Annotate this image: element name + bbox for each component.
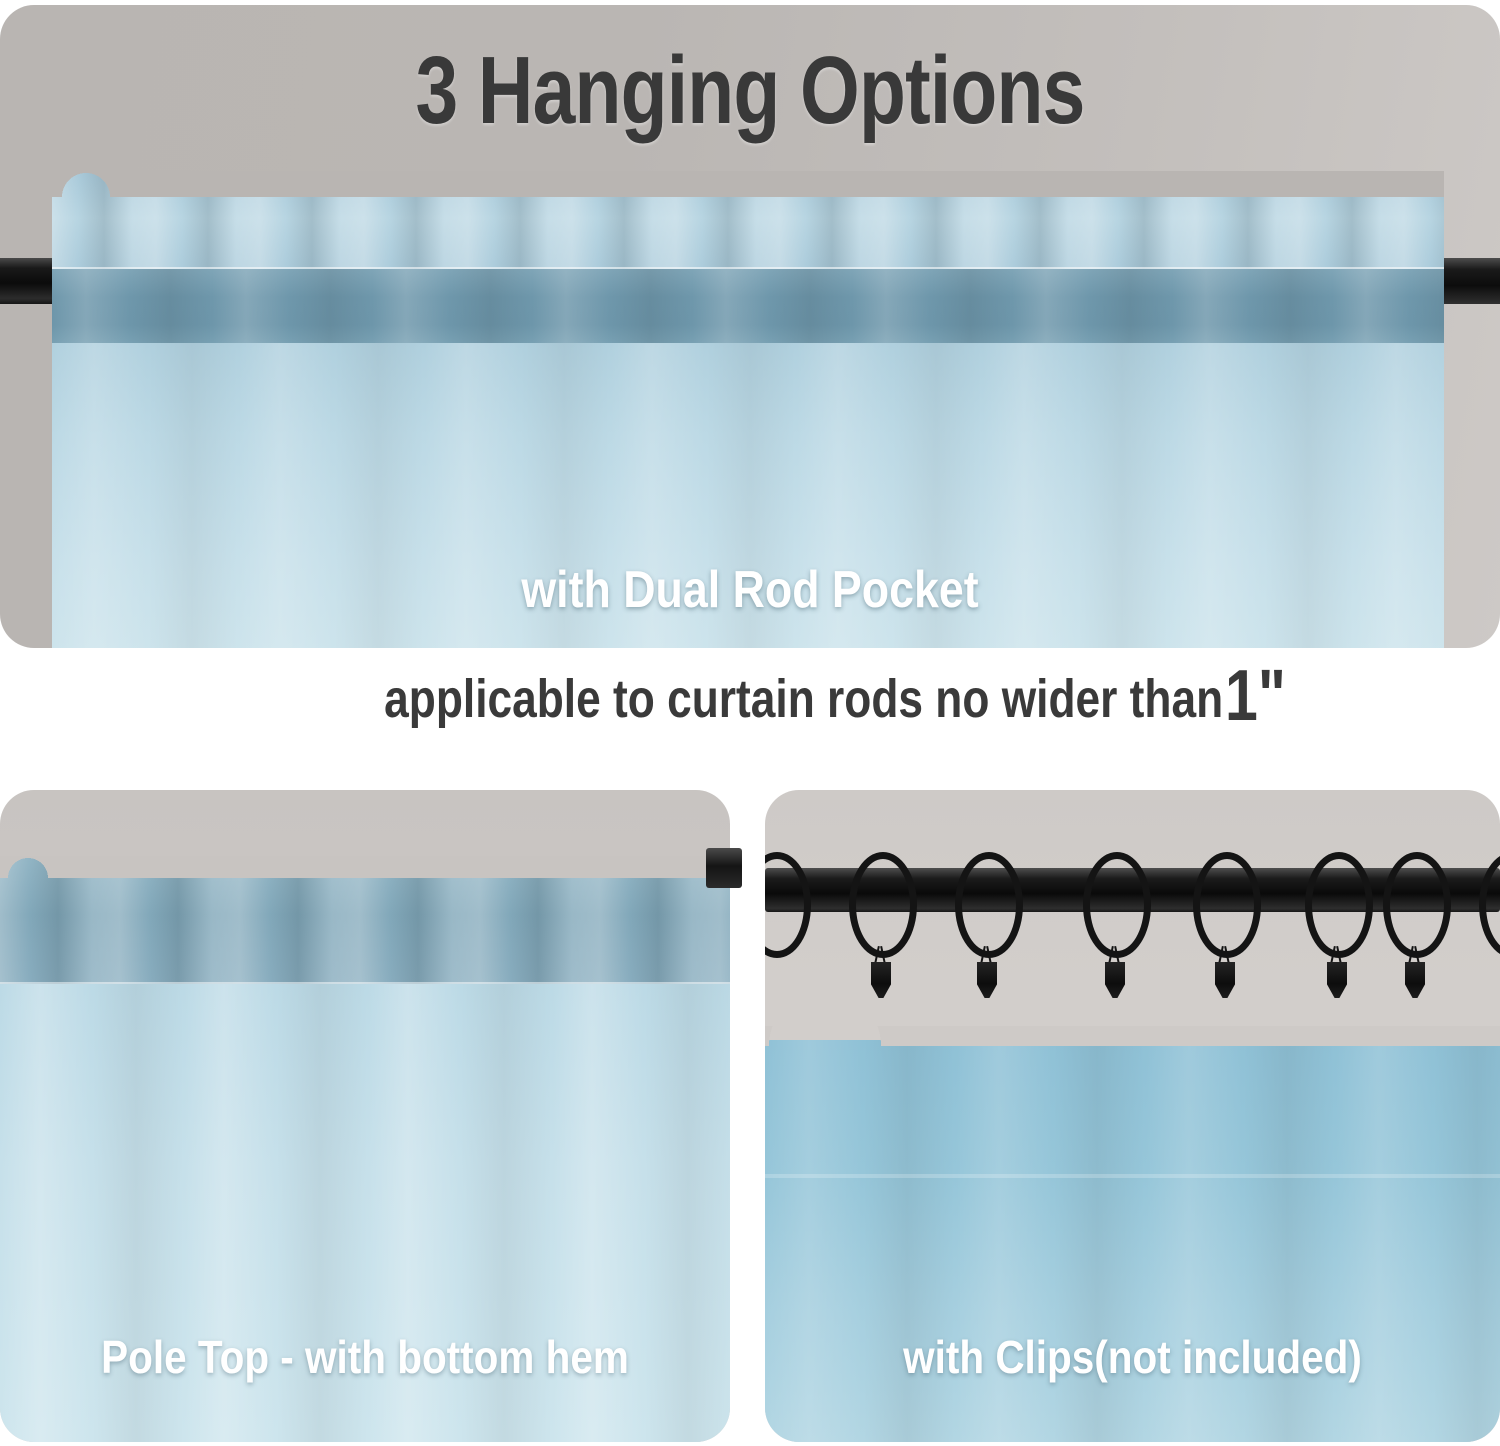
caption-with-clips: with Clips(not included)	[809, 1330, 1456, 1384]
curtain-ring-icon	[849, 852, 917, 958]
curtain-rod-pocket-band	[52, 269, 1444, 349]
curtain-ring-icon	[1083, 852, 1151, 958]
curtain-ring-icon	[1193, 852, 1261, 958]
note-rod-width-measure: 1"	[1225, 668, 1286, 726]
curtain-top-wave	[765, 1026, 1500, 1046]
page-title: 3 Hanging Options	[150, 43, 1350, 139]
curtain-scallop-edge	[52, 171, 1444, 197]
curtain-hemline	[765, 1174, 1500, 1178]
note-rod-width-text: applicable to curtain rods no wider than	[384, 668, 1223, 730]
rod-end-icon	[706, 848, 742, 888]
caption-dual-rod-pocket: with Dual Rod Pocket	[105, 560, 1395, 620]
pole-top-scallop-edge	[0, 856, 730, 878]
note-rod-width: applicable to curtain rods no wider than…	[0, 665, 1500, 730]
curtain-ring-icon	[1383, 852, 1451, 958]
infographic-stage: 3 Hanging Options with Dual Rod Pocket a…	[0, 0, 1500, 1446]
curtain-ring-icon	[1305, 852, 1373, 958]
panel-dual-rod-pocket: 3 Hanging Options with Dual Rod Pocket	[0, 5, 1500, 648]
curtain-ring-icon	[955, 852, 1023, 958]
caption-pole-top: Pole Top - with bottom hem	[44, 1330, 686, 1384]
